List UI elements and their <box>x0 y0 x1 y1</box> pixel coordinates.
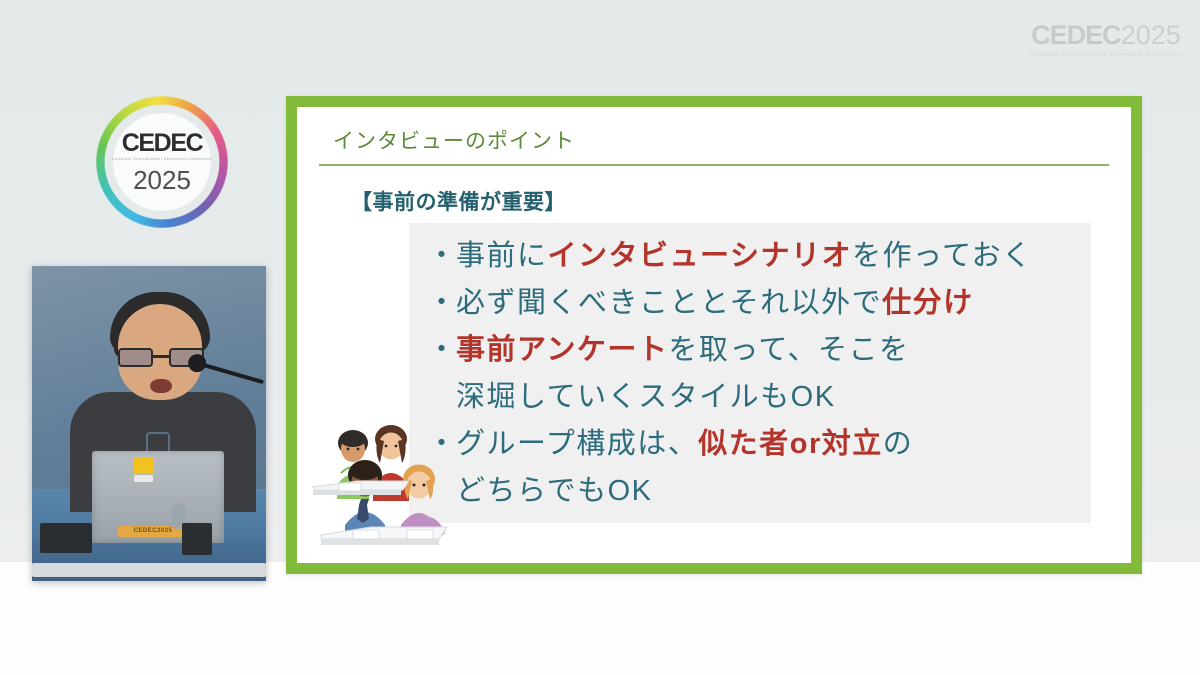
cedec-ring-logo: CEDEC Computer Entertainment Developers … <box>96 96 228 228</box>
people-at-desks-clipart-icon <box>311 413 487 557</box>
speaker-webcam-feed: CEDEC2025 <box>32 266 266 581</box>
bullet-marker: ・ <box>427 240 456 272</box>
bullet-line: ・事前にインタビューシナリオを作っておく <box>427 233 1083 280</box>
bullet-emphasis-text: 事前アンケート <box>456 334 668 366</box>
bullet-text: 必ず聞くべきこととそれ以外で <box>456 287 882 319</box>
slide-subheading: 【事前の準備が重要】 <box>319 186 1109 216</box>
watermark-brand: CEDEC <box>1031 20 1121 50</box>
bullet-line: ・必ず聞くべきこととそれ以外で仕分け <box>427 280 1083 327</box>
bullet-emphasis-text: インタビューシナリオ <box>548 240 852 272</box>
slide-title: インタビューのポイント <box>319 125 1109 164</box>
laptop-sticker-white <box>134 475 153 482</box>
slide-frame: インタビューのポイント 【事前の準備が重要】 ・事前にインタビューシナリオを作っ… <box>286 96 1142 574</box>
ring-logo-tagline: Computer Entertainment Developers Confer… <box>112 158 212 162</box>
bullet-line: 深堀していくスタイルもOK <box>427 374 1083 421</box>
slide-content: インタビューのポイント 【事前の準備が重要】 ・事前にインタビューシナリオを作っ… <box>297 107 1131 563</box>
bullet-panel: ・事前にインタビューシナリオを作っておく・必ず聞くべきこととそれ以外で仕分け・事… <box>409 223 1091 523</box>
ring-logo-brand: CEDEC <box>122 131 203 156</box>
bullet-text: 深堀していくスタイルもOK <box>456 381 836 413</box>
desk-edge <box>32 563 266 577</box>
bullet-text: を取って、そこを <box>668 334 909 366</box>
bullet-line: ・事前アンケートを取って、そこを <box>427 327 1083 374</box>
laptop-sticker-yellow <box>134 457 154 474</box>
title-divider <box>319 164 1109 166</box>
bullet-text: の <box>883 428 914 460</box>
bullet-emphasis-text: 似た者or対立 <box>698 428 883 460</box>
bullet-line: どちらでもOK <box>427 468 1083 515</box>
bullet-text: 事前に <box>456 240 548 272</box>
equipment-box-left <box>40 523 92 553</box>
glasses-lens-left <box>118 348 153 367</box>
glasses-bridge <box>153 355 169 358</box>
watermark-year: 2025 <box>1121 20 1181 50</box>
watermark-brand-line: CEDEC2025 <box>1030 22 1182 49</box>
bullet-marker: ・ <box>427 334 456 366</box>
bullet-emphasis-text: 仕分け <box>882 287 974 319</box>
equipment-box-right <box>182 523 212 555</box>
bullet-marker: ・ <box>427 287 456 319</box>
ring-logo-year: 2025 <box>133 167 191 193</box>
bullet-text: を作っておく <box>852 240 1033 272</box>
bullet-line: ・グループ構成は、似た者or対立の <box>427 421 1083 468</box>
watermark-tagline: Computer Entertainment Developers Confer… <box>1030 52 1182 58</box>
bullet-text: グループ構成は、 <box>456 428 698 460</box>
ring-logo-text: CEDEC Computer Entertainment Developers … <box>96 96 228 228</box>
speaker-mouth <box>150 379 172 393</box>
presentation-stage: CEDEC2025 Computer Entertainment Develop… <box>0 0 1200 675</box>
cedec-watermark: CEDEC2025 Computer Entertainment Develop… <box>1030 22 1182 58</box>
